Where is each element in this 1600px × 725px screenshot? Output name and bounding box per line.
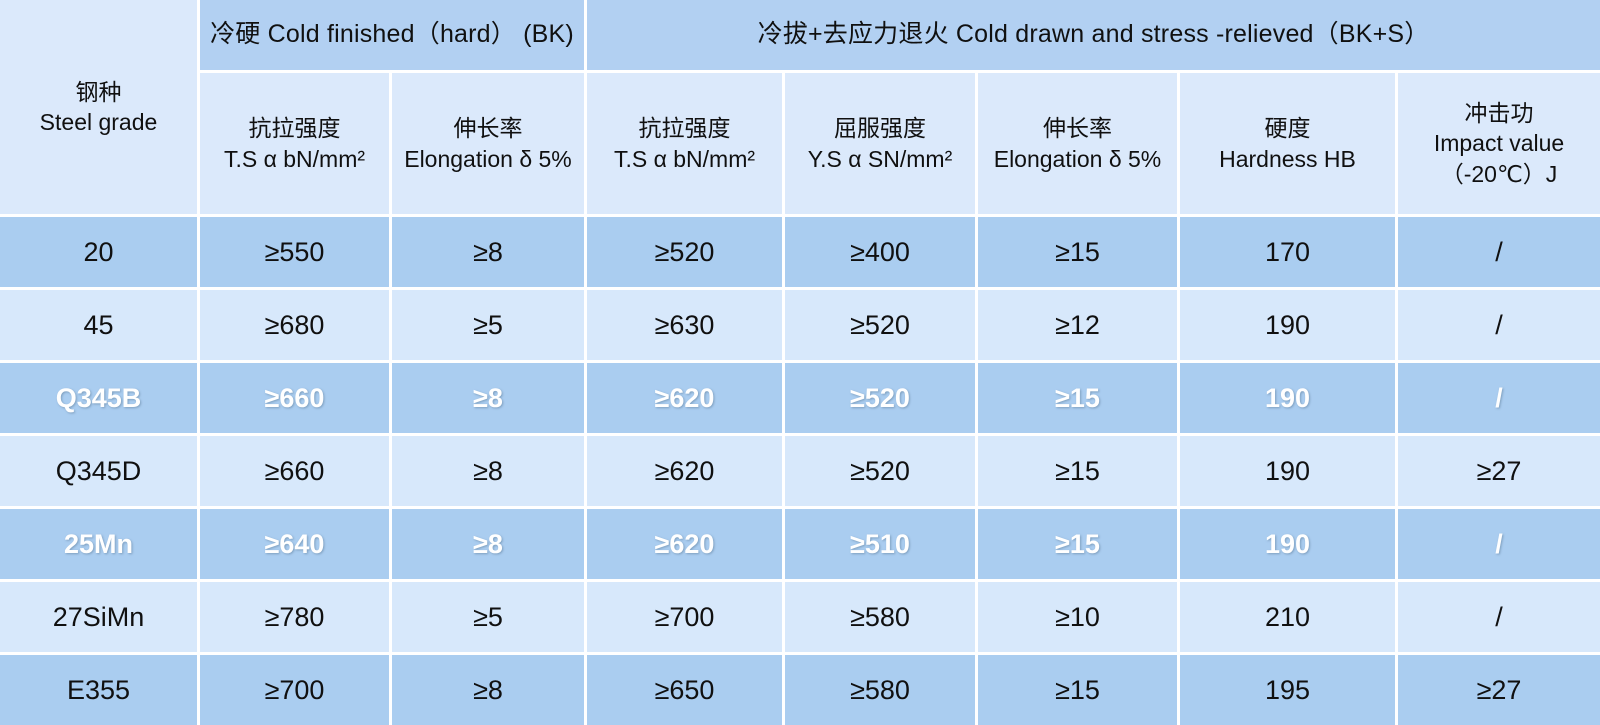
- cell-value: ≥520: [785, 290, 978, 363]
- table-row: 45≥680≥5≥630≥520≥12190/: [0, 290, 1600, 363]
- group-header-row: 钢种 Steel grade 冷硬 Cold finished（hard） (B…: [0, 0, 1600, 73]
- column-header-elongation-bk: 伸长率 Elongation δ 5%: [392, 73, 587, 217]
- group-header-cold-finished: 冷硬 Cold finished（hard） (BK): [200, 0, 587, 73]
- cell-value: ≥660: [200, 363, 392, 436]
- column-header-steel-grade-cn: 钢种: [0, 77, 197, 107]
- cell-value: ≥15: [978, 217, 1180, 290]
- cell-value: ≥700: [200, 655, 392, 725]
- cell-steel-grade: 25Mn: [0, 509, 200, 582]
- column-header-hardness-en: Hardness HB: [1180, 144, 1395, 174]
- cell-value: ≥640: [200, 509, 392, 582]
- cell-value: ≥15: [978, 436, 1180, 509]
- cell-value: ≥520: [785, 436, 978, 509]
- column-header-yield-strength-bks-en: Y.S α SN/mm²: [785, 144, 975, 174]
- cell-value: ≥580: [785, 582, 978, 655]
- cell-value: ≥630: [587, 290, 785, 363]
- cell-value: 190: [1180, 290, 1398, 363]
- column-header-tensile-strength-bk-cn: 抗拉强度: [200, 113, 389, 143]
- table-row: Q345B≥660≥8≥620≥520≥15190/: [0, 363, 1600, 436]
- column-header-elongation-bk-cn: 伸长率: [392, 113, 584, 143]
- cell-steel-grade: 27SiMn: [0, 582, 200, 655]
- column-header-tensile-strength-bks-cn: 抗拉强度: [587, 113, 782, 143]
- cell-value: /: [1398, 582, 1600, 655]
- cell-value: ≥15: [978, 509, 1180, 582]
- cell-value: ≥660: [200, 436, 392, 509]
- column-header-tensile-strength-bks-en: T.S α bN/mm²: [587, 144, 782, 174]
- column-header-elongation-bk-en: Elongation δ 5%: [392, 144, 584, 174]
- table-row: 27SiMn≥780≥5≥700≥580≥10210/: [0, 582, 1600, 655]
- cell-value: ≥15: [978, 363, 1180, 436]
- column-header-tensile-strength-bks: 抗拉强度 T.S α bN/mm²: [587, 73, 785, 217]
- table-row: 20≥550≥8≥520≥400≥15170/: [0, 217, 1600, 290]
- column-header-elongation-bks: 伸长率 Elongation δ 5%: [978, 73, 1180, 217]
- column-header-hardness: 硬度 Hardness HB: [1180, 73, 1398, 217]
- cell-value: ≥620: [587, 509, 785, 582]
- cell-value: 190: [1180, 363, 1398, 436]
- cell-steel-grade: Q345B: [0, 363, 200, 436]
- sub-header-row: 抗拉强度 T.S α bN/mm² 伸长率 Elongation δ 5% 抗拉…: [0, 73, 1600, 217]
- cell-value: ≥8: [392, 363, 587, 436]
- cell-value: ≥10: [978, 582, 1180, 655]
- column-header-impact-value: 冲击功 Impact value （-20℃）J: [1398, 73, 1600, 217]
- cell-value: ≥400: [785, 217, 978, 290]
- cell-value: ≥27: [1398, 655, 1600, 725]
- column-header-elongation-bks-cn: 伸长率: [978, 113, 1177, 143]
- cell-value: /: [1398, 363, 1600, 436]
- cell-value: ≥520: [785, 363, 978, 436]
- cell-value: 190: [1180, 509, 1398, 582]
- cell-value: ≥520: [587, 217, 785, 290]
- cell-value: ≥620: [587, 436, 785, 509]
- column-header-yield-strength-bks-cn: 屈服强度: [785, 113, 975, 143]
- cell-value: ≥620: [587, 363, 785, 436]
- cell-value: ≥700: [587, 582, 785, 655]
- cell-value: ≥8: [392, 655, 587, 725]
- column-header-impact-value-cn: 冲击功: [1398, 98, 1600, 128]
- steel-grade-properties-table: 钢种 Steel grade 冷硬 Cold finished（hard） (B…: [0, 0, 1600, 725]
- cell-value: ≥8: [392, 436, 587, 509]
- cell-steel-grade: E355: [0, 655, 200, 725]
- cell-value: ≥510: [785, 509, 978, 582]
- column-header-tensile-strength-bk: 抗拉强度 T.S α bN/mm²: [200, 73, 392, 217]
- cell-value: ≥550: [200, 217, 392, 290]
- cell-steel-grade: 45: [0, 290, 200, 363]
- cell-value: ≥780: [200, 582, 392, 655]
- cell-steel-grade: 20: [0, 217, 200, 290]
- cell-value: ≥27: [1398, 436, 1600, 509]
- cell-value: 195: [1180, 655, 1398, 725]
- table-body: 20≥550≥8≥520≥400≥15170/45≥680≥5≥630≥520≥…: [0, 217, 1600, 725]
- cell-value: /: [1398, 509, 1600, 582]
- table-row: Q345D≥660≥8≥620≥520≥15190≥27: [0, 436, 1600, 509]
- table-row: E355≥700≥8≥650≥580≥15195≥27: [0, 655, 1600, 725]
- table-row: 25Mn≥640≥8≥620≥510≥15190/: [0, 509, 1600, 582]
- group-header-cold-drawn-stress-relieved: 冷拔+去应力退火 Cold drawn and stress -relieved…: [587, 0, 1600, 73]
- cell-value: ≥5: [392, 290, 587, 363]
- column-header-yield-strength-bks: 屈服强度 Y.S α SN/mm²: [785, 73, 978, 217]
- cell-value: 210: [1180, 582, 1398, 655]
- column-header-tensile-strength-bk-en: T.S α bN/mm²: [200, 144, 389, 174]
- cell-value: /: [1398, 217, 1600, 290]
- cell-value: ≥8: [392, 509, 587, 582]
- cell-value: ≥8: [392, 217, 587, 290]
- cell-value: ≥680: [200, 290, 392, 363]
- cell-value: ≥5: [392, 582, 587, 655]
- column-header-elongation-bks-en: Elongation δ 5%: [978, 144, 1177, 174]
- table-header: 钢种 Steel grade 冷硬 Cold finished（hard） (B…: [0, 0, 1600, 217]
- cell-steel-grade: Q345D: [0, 436, 200, 509]
- cell-value: /: [1398, 290, 1600, 363]
- column-header-impact-value-en: Impact value: [1398, 128, 1600, 158]
- column-header-hardness-cn: 硬度: [1180, 113, 1395, 143]
- cell-value: ≥15: [978, 655, 1180, 725]
- column-header-steel-grade: 钢种 Steel grade: [0, 0, 200, 217]
- cell-value: 170: [1180, 217, 1398, 290]
- column-header-impact-value-temp: （-20℃）J: [1398, 159, 1600, 189]
- cell-value: ≥650: [587, 655, 785, 725]
- cell-value: ≥580: [785, 655, 978, 725]
- column-header-steel-grade-en: Steel grade: [0, 107, 197, 137]
- cell-value: 190: [1180, 436, 1398, 509]
- cell-value: ≥12: [978, 290, 1180, 363]
